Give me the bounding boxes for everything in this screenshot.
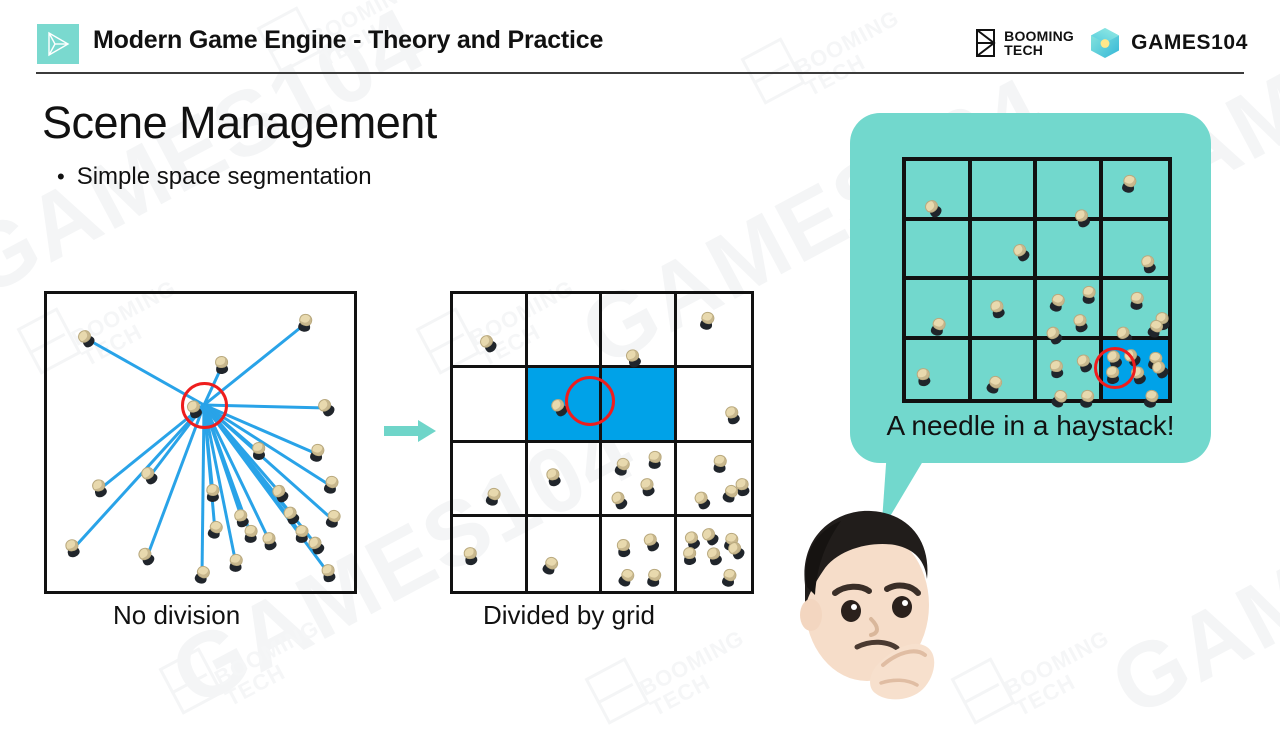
agent-sprite	[548, 395, 573, 421]
agent-sprite	[616, 538, 634, 559]
agent-sprite	[1072, 313, 1092, 335]
haystack-grid	[902, 157, 1172, 403]
watermark-b-mark-icon	[158, 647, 223, 715]
grid-cell[interactable]	[528, 443, 603, 517]
games104-logo: GAMES104	[1088, 26, 1248, 60]
grid-cell[interactable]	[677, 368, 752, 442]
agent-sprite	[1010, 240, 1035, 266]
agent-sprite	[922, 196, 947, 222]
grid-cell[interactable]	[906, 221, 972, 281]
grid-cell[interactable]	[528, 294, 603, 368]
caption-divided-by-grid: Divided by grid	[483, 600, 655, 631]
agent-sprite	[717, 566, 740, 591]
ray-line	[202, 405, 204, 576]
agent-sprite	[1104, 365, 1122, 386]
grid-cell[interactable]	[453, 294, 528, 368]
ray-line	[87, 339, 204, 405]
grid-cell[interactable]	[1037, 280, 1103, 340]
agent-sprite	[1104, 347, 1126, 371]
games104-cube-icon	[1088, 26, 1122, 60]
ray-lines	[47, 294, 348, 585]
agent-sprite	[981, 373, 1006, 399]
grid-cell[interactable]	[1037, 161, 1103, 221]
agent-sprite	[1139, 387, 1162, 412]
grid-cell[interactable]	[1103, 161, 1169, 221]
grid-cell[interactable]	[602, 294, 677, 368]
agent-sprite	[477, 331, 502, 357]
agent-sprite	[641, 531, 664, 555]
grid-cell[interactable]	[453, 443, 528, 517]
watermark-line2: TECH	[646, 669, 714, 721]
grid-cell[interactable]	[528, 368, 603, 442]
ray-line	[204, 405, 327, 408]
grid-cell[interactable]	[453, 368, 528, 442]
watermark-booming-tech: BOOMING TECH	[1001, 626, 1124, 721]
speech-bubble: A needle in a haystack!	[850, 113, 1211, 463]
grid-cell[interactable]	[1103, 221, 1169, 281]
agent-sprite	[710, 453, 731, 476]
agent-sprite	[537, 554, 562, 580]
booming-b-mark-icon	[974, 28, 1000, 58]
games104-text: GAMES104	[1131, 31, 1248, 55]
grid-cell[interactable]	[972, 280, 1038, 340]
slide-header: Modern Game Engine - Theory and Practice…	[0, 0, 1280, 80]
agent-sprite	[696, 310, 719, 335]
agent-sprite	[1049, 359, 1067, 380]
agent-sprite	[927, 315, 951, 340]
agent-sprite	[1127, 291, 1148, 314]
agent-sprite	[1074, 351, 1097, 375]
grid-cell[interactable]	[1037, 221, 1103, 281]
grid-cell[interactable]	[602, 517, 677, 591]
agent-sprite	[1139, 253, 1160, 276]
booming-tech-logo: BOOMING TECH	[974, 28, 1074, 58]
grid-cell[interactable]	[677, 443, 752, 517]
agent-sprite	[691, 488, 714, 513]
agent-sprite	[915, 367, 933, 388]
thinking-face-memoji	[775, 497, 963, 712]
agent-sprite	[724, 538, 749, 564]
grid-cell[interactable]	[906, 280, 972, 340]
agent-sprite	[482, 485, 506, 510]
agent-sprite	[1144, 349, 1167, 373]
bullet-label: Simple space segmentation	[77, 163, 372, 191]
bullet-item: • Simple space segmentation	[57, 163, 372, 191]
slide-canvas: GAMES104 GAMES104 GAMES104 GAMES104 GAME…	[0, 0, 1280, 737]
booming-line-1: BOOMING	[1004, 29, 1074, 43]
grid-cell[interactable]	[1037, 340, 1103, 400]
agent-sprite	[1120, 344, 1145, 370]
divided-by-grid-diagram	[450, 291, 754, 594]
slide-heading: Scene Management	[42, 97, 437, 149]
booming-line-2: TECH	[1004, 43, 1074, 57]
bubble-caption: A needle in a haystack!	[850, 410, 1211, 442]
agent-sprite	[643, 567, 665, 591]
grid-cell[interactable]	[602, 368, 677, 442]
grid-cell[interactable]	[602, 443, 677, 517]
agent-sprite	[704, 545, 726, 569]
watermark-line1: BOOMING	[1000, 625, 1113, 701]
no-division-diagram	[44, 291, 357, 594]
grid-cell[interactable]	[906, 161, 972, 221]
booming-tech-text: BOOMING TECH	[1004, 29, 1074, 57]
agent-sprite	[1076, 387, 1098, 411]
agent-sprite	[614, 566, 639, 592]
grid-cell[interactable]	[906, 340, 972, 400]
agent-sprite	[720, 531, 743, 555]
ray-line	[204, 324, 305, 405]
right-arrow-icon	[384, 420, 436, 442]
agent-sprite	[609, 488, 633, 513]
grid-cell[interactable]	[1103, 280, 1169, 340]
play-triangle-icon	[37, 24, 79, 64]
agent-sprite	[988, 299, 1008, 322]
agent-sprite	[462, 546, 480, 567]
agent-sprite	[1128, 364, 1150, 388]
agent-sprite	[698, 524, 723, 550]
agent-sprite	[1045, 291, 1069, 316]
agent-sprite	[681, 546, 699, 567]
agent-sprite	[1047, 386, 1072, 412]
agent-sprite	[723, 405, 744, 428]
grid-cell[interactable]	[677, 294, 752, 368]
agent-sprite	[734, 477, 753, 499]
agent-sprite	[1080, 285, 1100, 307]
agent-sprite	[610, 455, 634, 480]
watermark-line2: TECH	[221, 659, 289, 711]
page-title: Modern Game Engine - Theory and Practice	[93, 26, 603, 55]
agent-sprite	[1118, 173, 1141, 198]
agent-sprite	[646, 449, 666, 471]
watermark-line1: BOOMING	[635, 625, 748, 701]
agent-sprite	[1148, 357, 1173, 383]
agent-sprite	[639, 476, 659, 498]
grid-cell[interactable]	[528, 517, 603, 591]
grid-cell[interactable]	[972, 221, 1038, 281]
bullet-marker-icon: •	[57, 166, 65, 188]
agent-sprite	[682, 529, 704, 553]
grid-cell[interactable]	[1103, 340, 1169, 400]
grid-cell[interactable]	[453, 517, 528, 591]
agent-sprite	[718, 482, 743, 508]
ray-line	[73, 405, 204, 549]
agent-sprite	[544, 466, 564, 489]
watermark-b-mark-icon	[584, 657, 649, 725]
grid-cell[interactable]	[972, 340, 1038, 400]
watermark-line2: TECH	[1011, 669, 1079, 721]
header-divider	[36, 72, 1244, 74]
caption-no-division: No division	[113, 600, 240, 631]
grid-cell[interactable]	[677, 517, 752, 591]
watermark-booming-tech: BOOMING TECH	[636, 626, 759, 721]
agent-sprite	[1154, 311, 1173, 333]
grid-cell[interactable]	[972, 161, 1038, 221]
